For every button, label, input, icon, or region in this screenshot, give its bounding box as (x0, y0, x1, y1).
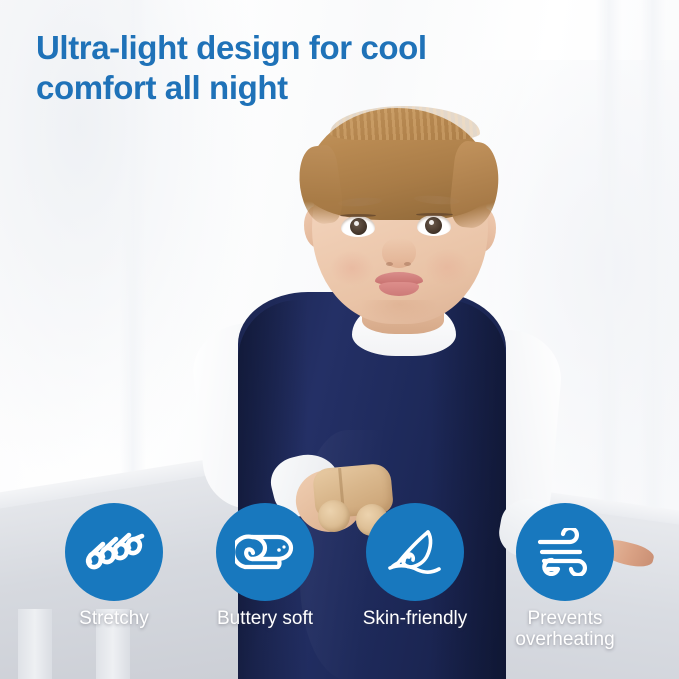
spring-coil-icon (83, 529, 145, 575)
baby-nostril-left (386, 262, 393, 266)
iris (425, 217, 442, 234)
baby-eyelash-right (416, 213, 453, 216)
feature-skin-friendly[interactable]: Skin-friendly (340, 503, 490, 629)
baby-eye-right (417, 215, 451, 236)
feature-icon-badge (516, 503, 614, 601)
feature-label: Prevents overheating (490, 608, 640, 651)
feature-label: Buttery soft (190, 608, 340, 629)
feature-label: Skin-friendly (340, 608, 490, 629)
iris (350, 218, 367, 235)
airflow-breeze-icon (534, 528, 596, 576)
product-feature-image: Ultra-light design for cool comfort all … (0, 0, 679, 679)
baby-eyelash-left (340, 214, 376, 217)
feature-icon-badge (366, 503, 464, 601)
fabric-roll-icon (235, 528, 295, 576)
feature-badge-row: Stretchy Buttery soft (0, 500, 679, 660)
feature-buttery-soft[interactable]: Buttery soft (190, 503, 340, 629)
feature-icon-badge (216, 503, 314, 601)
feature-stretchy[interactable]: Stretchy (39, 503, 189, 629)
feature-label: Stretchy (39, 608, 189, 629)
page-title: Ultra-light design for cool comfort all … (36, 28, 536, 109)
baby-hair-strands (330, 106, 480, 140)
baby-eye-left (341, 216, 375, 237)
feature-prevents-overheating[interactable]: Prevents overheating (490, 503, 640, 651)
hand-on-fabric-icon (384, 526, 446, 578)
feature-icon-badge (65, 503, 163, 601)
baby-nostril-right (404, 262, 411, 266)
baby-cheek-right (424, 248, 470, 286)
baby-cheek-left (330, 250, 374, 286)
baby-chin-shadow (360, 300, 438, 322)
